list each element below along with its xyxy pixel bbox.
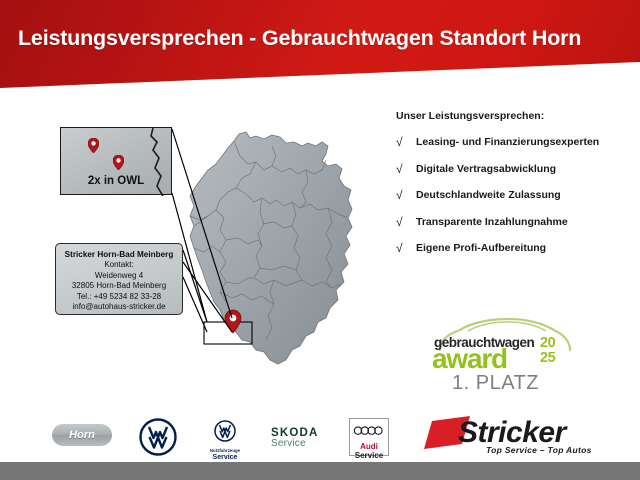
owl-inset-callout: 2x in OWL — [60, 127, 172, 195]
phone-number: Tel.: +49 5234 82 33-28 — [60, 292, 178, 302]
award-year-top: 20 — [540, 336, 555, 351]
check-mark-icon: √ — [396, 216, 416, 229]
address-callout-box: Stricker Horn-Bad Meinberg Kontakt: Weid… — [55, 243, 183, 315]
skoda-service-logo: SKODA Service — [271, 427, 319, 449]
promise-item-label: Eigene Profi-Aufbereitung — [416, 242, 546, 256]
check-mark-icon: √ — [396, 189, 416, 202]
award-word: award — [432, 345, 507, 373]
vw-commercial-line1: Nutzfahrzeuge — [203, 448, 247, 453]
audi-service-logo: Audi Service — [349, 418, 389, 456]
city-address: 32805 Horn-Bad Meinberg — [60, 281, 178, 291]
vw-logo — [139, 418, 177, 456]
check-mark-icon: √ — [396, 242, 416, 255]
slide-canvas: Leistungsversprechen - Gebrauchtwagen St… — [0, 0, 640, 480]
award-rank: 1. PLATZ — [452, 372, 539, 395]
footer-strip — [0, 462, 640, 480]
skoda-service-label: Service — [271, 438, 319, 449]
vw-commercial-line2: Service — [203, 454, 247, 461]
email-address: info@autohaus-stricker.de — [60, 302, 178, 312]
page-title: Leistungsversprechen - Gebrauchtwagen St… — [18, 26, 581, 51]
street-address: Weidenweg 4 — [60, 271, 178, 281]
audi-service-label: Service — [350, 451, 388, 460]
promise-item: √ Digitale Vertragsabwicklung — [396, 163, 634, 177]
vw-logo — [214, 420, 236, 442]
promise-item-label: Deutschlandweite Zulassung — [416, 189, 561, 203]
horn-logo: Horn — [52, 424, 112, 446]
stricker-logo: Stricker Top Service – Top Autos — [424, 412, 602, 458]
vw-commercial-logo: Nutzfahrzeuge Service — [203, 420, 247, 461]
contact-label: Kontakt: — [60, 260, 178, 270]
promise-item: √ Transparente Inzahlungnahme — [396, 216, 634, 230]
promise-list: Unser Leistungsversprechen: √ Leasing- u… — [396, 110, 634, 269]
promise-item: √ Leasing- und Finanzierungsexperten — [396, 136, 634, 150]
promise-item: √ Deutschlandweite Zulassung — [396, 189, 634, 203]
award-year-bottom: 25 — [540, 351, 555, 366]
map-pin-icon — [88, 138, 99, 153]
award-year: 20 25 — [540, 336, 555, 366]
germany-map — [176, 112, 376, 402]
promise-item-label: Transparente Inzahlungnahme — [416, 216, 568, 230]
map-pin-icon — [113, 155, 124, 170]
check-mark-icon: √ — [396, 136, 416, 149]
promise-item: √ Eigene Profi-Aufbereitung — [396, 242, 634, 256]
stricker-tagline: Top Service – Top Autos — [486, 445, 592, 455]
award-badge: gebrauchtwagen award 20 25 1. PLATZ — [428, 318, 578, 394]
promise-heading: Unser Leistungsversprechen: — [396, 110, 634, 122]
owl-inset-label: 2x in OWL — [61, 175, 171, 187]
promise-item-label: Digitale Vertragsabwicklung — [416, 163, 556, 177]
dealer-name: Stricker Horn-Bad Meinberg — [60, 250, 178, 260]
audi-rings-icon — [353, 426, 385, 435]
check-mark-icon: √ — [396, 163, 416, 176]
audi-wordmark: Audi — [350, 442, 388, 451]
promise-item-label: Leasing- und Finanzierungsexperten — [416, 136, 599, 150]
